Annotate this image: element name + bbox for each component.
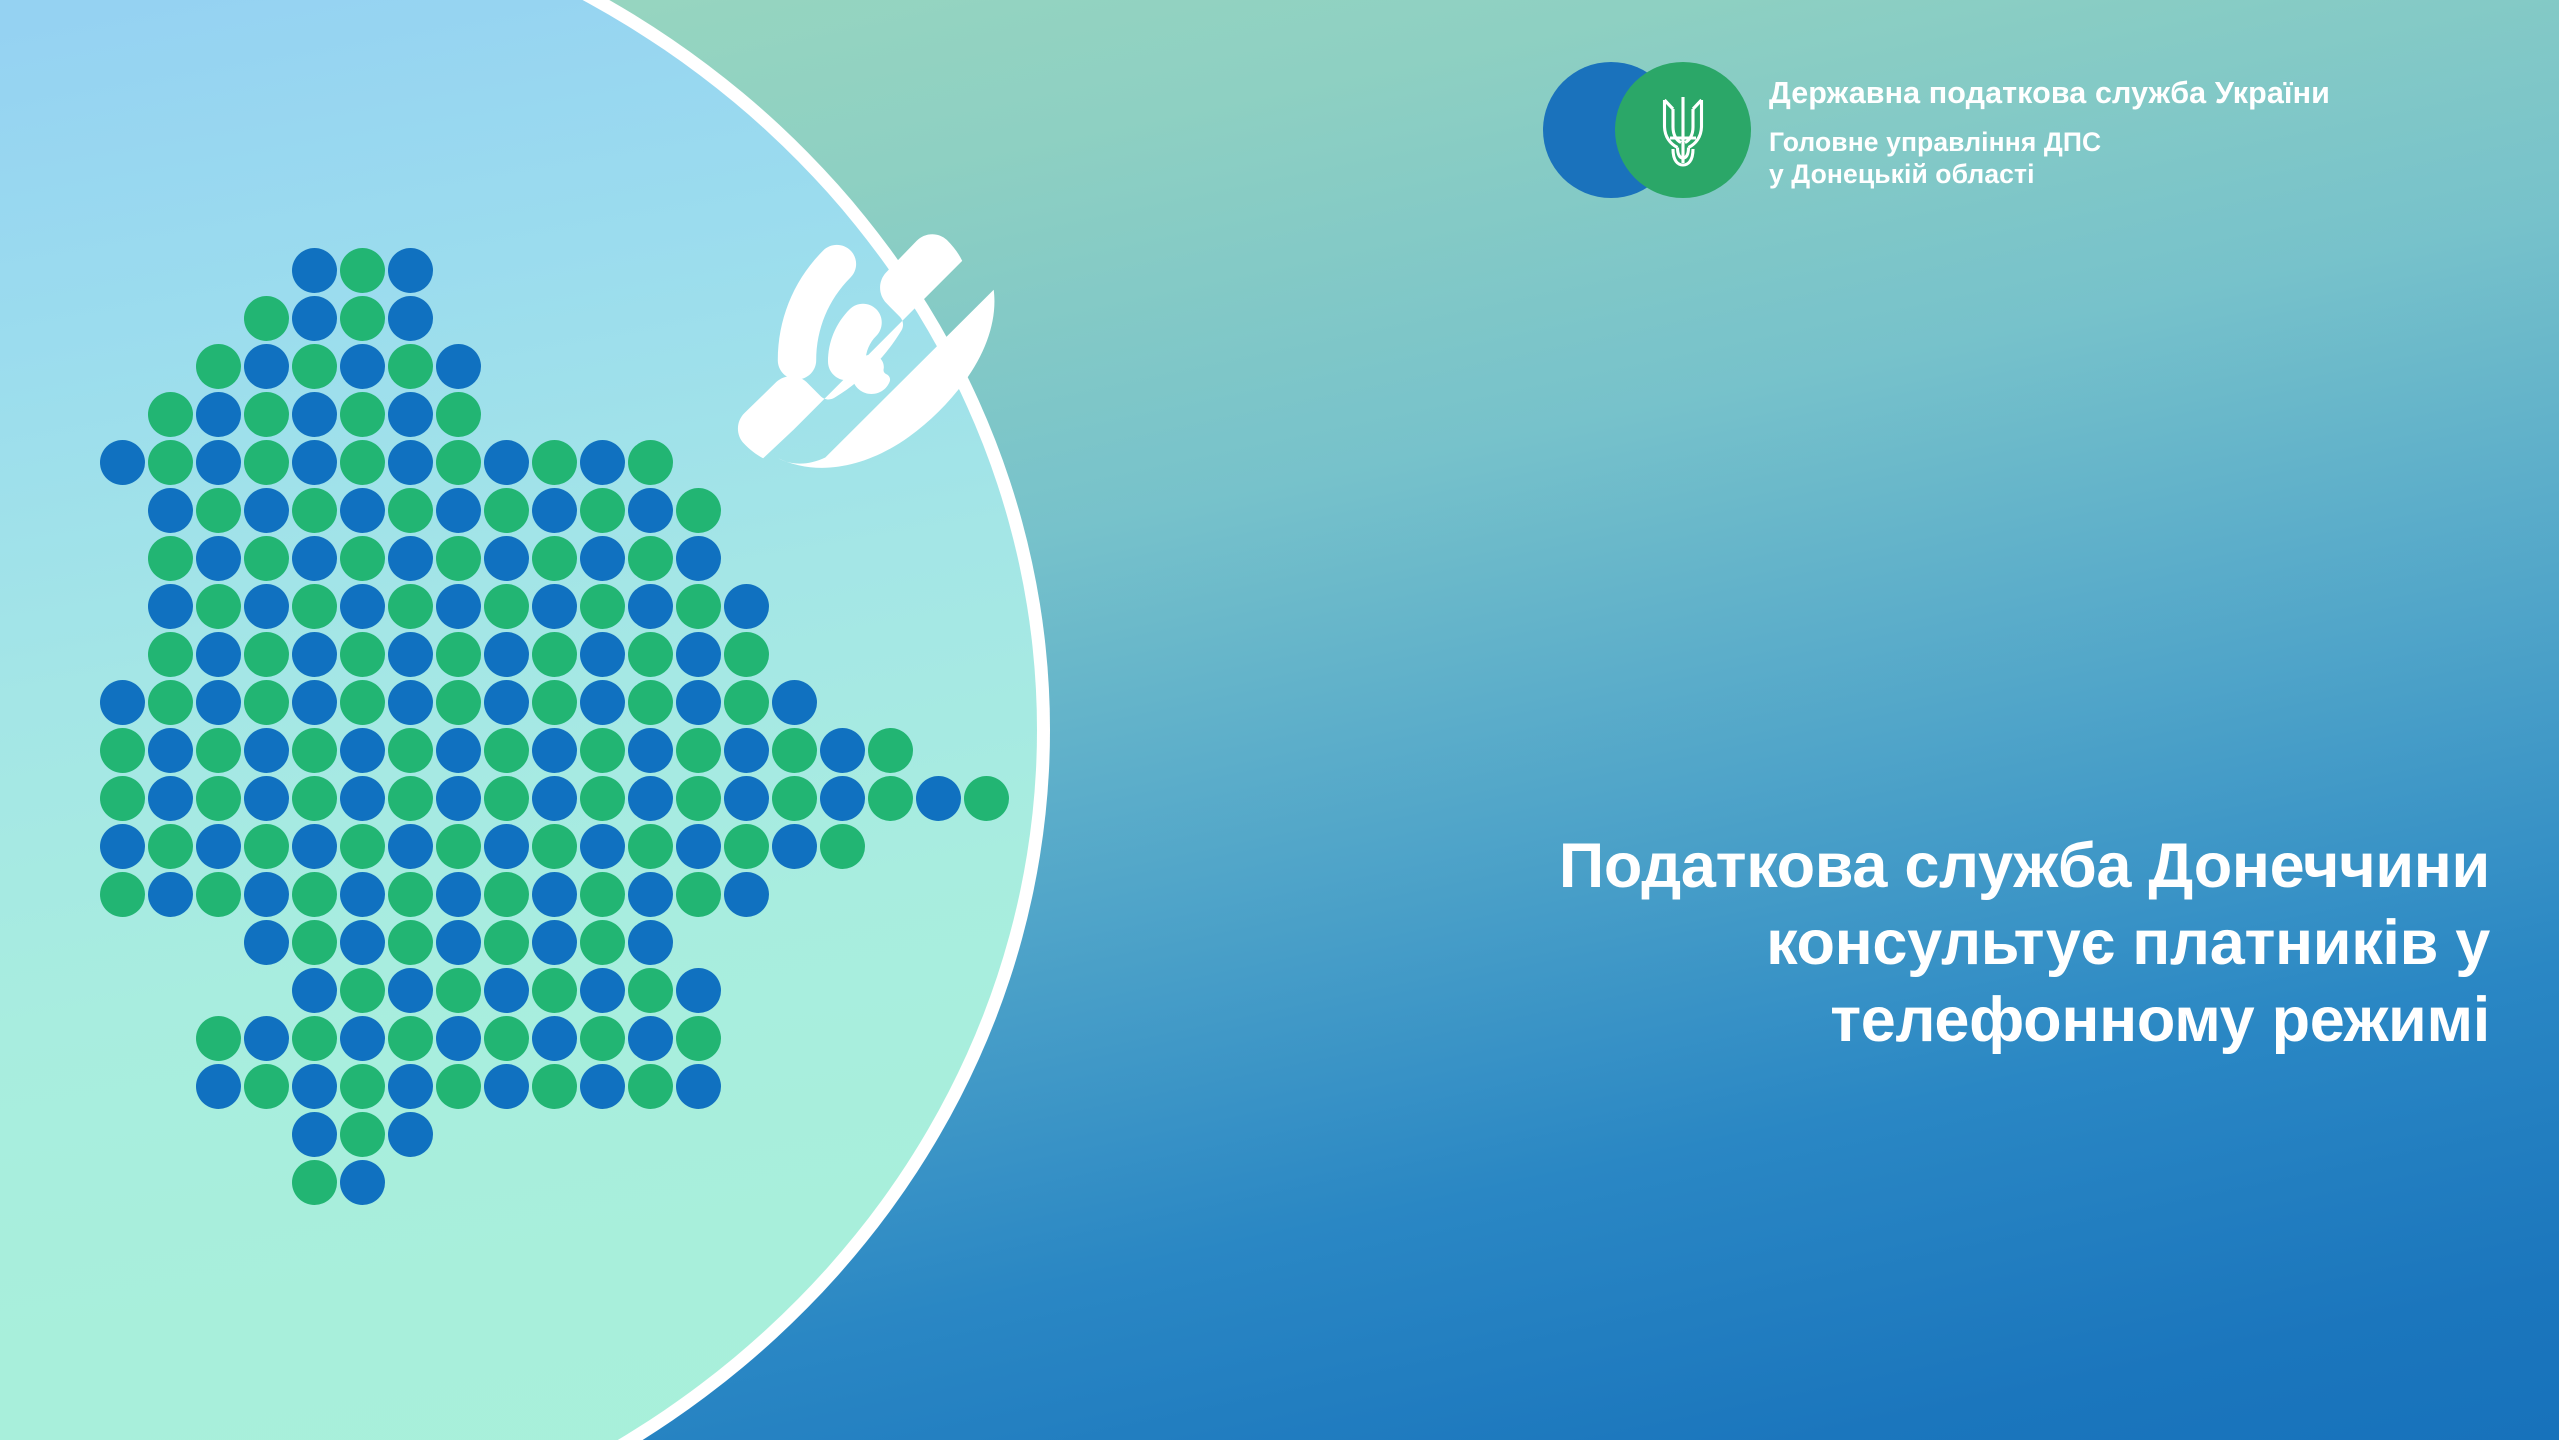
map-dot: [340, 584, 385, 629]
map-dot: [340, 872, 385, 917]
map-dot: [340, 968, 385, 1013]
map-dot: [292, 968, 337, 1013]
map-dot: [436, 1064, 481, 1109]
map-dot: [484, 1016, 529, 1061]
map-dot: [340, 680, 385, 725]
map-dot: [388, 392, 433, 437]
map-dot: [340, 296, 385, 341]
map-dot: [580, 872, 625, 917]
map-dot: [676, 680, 721, 725]
map-dot: [196, 632, 241, 677]
map-dot: [292, 536, 337, 581]
map-dot: [100, 776, 145, 821]
map-dot: [532, 872, 577, 917]
map-dot: [676, 776, 721, 821]
map-dot: [196, 728, 241, 773]
map-dot: [196, 488, 241, 533]
map-dot: [148, 632, 193, 677]
map-dot: [148, 392, 193, 437]
map-dot: [580, 728, 625, 773]
map-dot: [724, 776, 769, 821]
map-dot: [436, 728, 481, 773]
map-dot: [388, 344, 433, 389]
phone-handset-ringing-icon: [700, 228, 1030, 563]
map-dot: [244, 536, 289, 581]
dps-logo-block: Державна податкова служба України Головн…: [1543, 62, 2330, 198]
map-dot: [436, 440, 481, 485]
map-dot: [580, 632, 625, 677]
map-dot: [724, 872, 769, 917]
map-dot: [676, 1016, 721, 1061]
map-dot: [196, 392, 241, 437]
map-dot: [148, 440, 193, 485]
map-dot: [388, 776, 433, 821]
map-dot: [532, 1064, 577, 1109]
map-dot: [340, 1112, 385, 1157]
map-dot: [484, 968, 529, 1013]
map-dot: [436, 584, 481, 629]
map-dot: [100, 728, 145, 773]
map-dot: [772, 680, 817, 725]
map-dot: [100, 824, 145, 869]
map-dot: [628, 968, 673, 1013]
map-dot: [388, 968, 433, 1013]
map-dot: [580, 1064, 625, 1109]
map-dot: [628, 584, 673, 629]
map-dot: [628, 872, 673, 917]
map-dot: [196, 1016, 241, 1061]
map-dot: [628, 1016, 673, 1061]
map-dot: [964, 776, 1009, 821]
map-dot: [436, 536, 481, 581]
map-dot: [580, 920, 625, 965]
map-dot: [436, 824, 481, 869]
map-dot: [868, 728, 913, 773]
poster-canvas: Державна податкова служба України Головн…: [0, 0, 2559, 1440]
map-dot: [580, 776, 625, 821]
map-dot: [340, 344, 385, 389]
map-dot: [148, 776, 193, 821]
map-dot: [532, 1016, 577, 1061]
map-dot: [628, 728, 673, 773]
map-dot: [484, 680, 529, 725]
map-dot: [532, 824, 577, 869]
map-dot: [196, 536, 241, 581]
map-dot: [388, 536, 433, 581]
map-dot: [340, 776, 385, 821]
map-dot: [580, 536, 625, 581]
map-dot: [244, 392, 289, 437]
map-dot: [820, 728, 865, 773]
map-dot: [436, 344, 481, 389]
map-dot: [244, 872, 289, 917]
map-dot: [628, 1064, 673, 1109]
map-dot: [580, 1016, 625, 1061]
page-headline: Податкова служба Донеччини консультує пл…: [1130, 828, 2550, 1059]
map-dot: [388, 248, 433, 293]
map-dot: [388, 728, 433, 773]
map-dot: [484, 920, 529, 965]
map-dot: [292, 440, 337, 485]
map-dot: [292, 1112, 337, 1157]
map-dot: [580, 968, 625, 1013]
map-dot: [388, 584, 433, 629]
map-dot: [484, 584, 529, 629]
map-dot: [292, 728, 337, 773]
map-dot: [340, 248, 385, 293]
map-dot: [484, 824, 529, 869]
map-dot: [436, 1016, 481, 1061]
map-dot: [244, 1064, 289, 1109]
map-dot: [820, 776, 865, 821]
map-dot: [340, 728, 385, 773]
map-dot: [580, 440, 625, 485]
map-dot: [340, 632, 385, 677]
map-dot: [676, 968, 721, 1013]
map-dot: [148, 872, 193, 917]
map-dot: [724, 632, 769, 677]
map-dot: [628, 920, 673, 965]
map-dot: [388, 488, 433, 533]
map-dot: [292, 584, 337, 629]
map-dot: [436, 392, 481, 437]
map-dot: [244, 776, 289, 821]
map-dot: [436, 632, 481, 677]
map-dot: [292, 920, 337, 965]
map-dot: [292, 488, 337, 533]
map-dot: [484, 728, 529, 773]
map-dot: [292, 1160, 337, 1205]
map-dot: [196, 824, 241, 869]
map-dot: [340, 1160, 385, 1205]
map-dot: [340, 536, 385, 581]
map-dot: [292, 1064, 337, 1109]
map-dot: [916, 776, 961, 821]
map-dot: [484, 536, 529, 581]
map-dot: [436, 488, 481, 533]
map-dot: [628, 536, 673, 581]
map-dot: [244, 680, 289, 725]
logo-text: Державна податкова служба України Головн…: [1769, 62, 2330, 191]
map-dot: [484, 632, 529, 677]
logo-title: Державна податкова служба України: [1769, 76, 2330, 110]
map-dot: [340, 824, 385, 869]
map-dot: [196, 344, 241, 389]
map-dot: [292, 392, 337, 437]
map-dot: [196, 440, 241, 485]
map-dot: [532, 920, 577, 965]
map-dot: [196, 680, 241, 725]
map-dot: [244, 440, 289, 485]
map-dot: [532, 968, 577, 1013]
map-dot: [532, 440, 577, 485]
map-dot: [388, 296, 433, 341]
map-dot: [388, 824, 433, 869]
map-dot: [388, 632, 433, 677]
map-dot: [388, 872, 433, 917]
map-dot: [484, 872, 529, 917]
map-dot: [292, 680, 337, 725]
map-dot: [436, 872, 481, 917]
map-dot: [100, 872, 145, 917]
map-dot: [724, 584, 769, 629]
map-dot: [148, 584, 193, 629]
map-dot: [676, 632, 721, 677]
map-dot: [196, 776, 241, 821]
map-dot: [148, 824, 193, 869]
map-dot: [628, 632, 673, 677]
map-dot: [292, 872, 337, 917]
map-dot: [388, 1016, 433, 1061]
logo-subtitle: Головне управління ДПС у Донецькій облас…: [1769, 126, 2330, 191]
map-dot: [100, 440, 145, 485]
map-dot: [580, 584, 625, 629]
map-dot: [532, 728, 577, 773]
map-dot: [532, 776, 577, 821]
map-dot: [772, 776, 817, 821]
map-dot: [772, 728, 817, 773]
map-dot: [436, 776, 481, 821]
map-dot: [292, 632, 337, 677]
map-dot: [628, 680, 673, 725]
map-dot: [484, 488, 529, 533]
map-dot: [484, 440, 529, 485]
map-dot: [628, 440, 673, 485]
map-dot: [628, 488, 673, 533]
map-dot: [628, 824, 673, 869]
map-dot: [388, 680, 433, 725]
map-dot: [532, 488, 577, 533]
map-dot: [436, 920, 481, 965]
map-dot: [532, 584, 577, 629]
map-dot: [676, 872, 721, 917]
map-dot: [484, 776, 529, 821]
map-dot: [388, 1112, 433, 1157]
map-dot: [772, 824, 817, 869]
map-dot: [340, 392, 385, 437]
map-dot: [244, 632, 289, 677]
map-dot: [580, 488, 625, 533]
map-dot: [148, 488, 193, 533]
map-dot: [100, 680, 145, 725]
map-dot: [676, 824, 721, 869]
map-dot: [244, 824, 289, 869]
map-dot: [340, 1016, 385, 1061]
map-dot: [292, 824, 337, 869]
map-dot: [292, 344, 337, 389]
map-dot: [580, 680, 625, 725]
logo-marks: [1543, 62, 1751, 198]
map-dot: [244, 344, 289, 389]
map-dot: [868, 776, 913, 821]
map-dot: [532, 632, 577, 677]
map-dot: [724, 728, 769, 773]
map-dot: [244, 1016, 289, 1061]
map-dot: [580, 824, 625, 869]
map-dot: [244, 296, 289, 341]
map-dot: [340, 488, 385, 533]
map-dot: [628, 776, 673, 821]
map-dot: [820, 824, 865, 869]
map-dot: [292, 248, 337, 293]
map-dot: [340, 920, 385, 965]
map-dot: [724, 824, 769, 869]
map-dot: [148, 728, 193, 773]
map-dot: [196, 1064, 241, 1109]
map-dot: [244, 488, 289, 533]
map-dot: [484, 1064, 529, 1109]
ukrainian-tryzub-icon: [1659, 91, 1707, 169]
map-dot: [340, 1064, 385, 1109]
map-dot: [244, 584, 289, 629]
map-dot: [196, 872, 241, 917]
map-dot: [532, 680, 577, 725]
map-dot: [388, 440, 433, 485]
map-dot: [532, 536, 577, 581]
map-dot: [196, 584, 241, 629]
map-dot: [676, 1064, 721, 1109]
map-dot: [340, 440, 385, 485]
map-dot: [244, 728, 289, 773]
map-dot: [436, 680, 481, 725]
map-dot: [244, 920, 289, 965]
map-dot: [148, 680, 193, 725]
map-dot: [388, 920, 433, 965]
map-dot: [292, 296, 337, 341]
map-dot: [292, 1016, 337, 1061]
map-dot: [724, 680, 769, 725]
map-dot: [436, 968, 481, 1013]
map-dot: [292, 776, 337, 821]
map-dot: [148, 536, 193, 581]
map-dot: [676, 728, 721, 773]
map-dot: [388, 1064, 433, 1109]
map-dot: [676, 584, 721, 629]
